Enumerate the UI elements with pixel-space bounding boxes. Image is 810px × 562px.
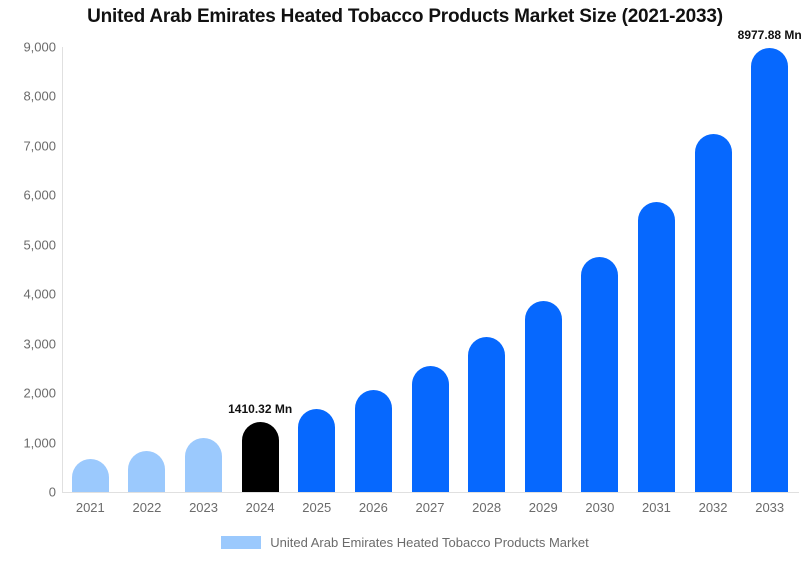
y-axis-tick-label: 9,000 [2,40,56,55]
y-axis-tick-label: 6,000 [2,188,56,203]
bar-2022[interactable] [128,451,165,492]
bar-2028[interactable] [468,337,505,492]
x-axis-tick-label: 2028 [472,500,501,515]
bar-2025[interactable] [298,409,335,492]
y-axis-tick-label: 2,000 [2,386,56,401]
x-axis: 2021202220232024202520262027202820292030… [62,500,798,522]
y-axis-tick-label: 7,000 [2,138,56,153]
bar-2031[interactable] [638,202,675,492]
x-axis-tick-label: 2032 [699,500,728,515]
x-axis-tick-label: 2031 [642,500,671,515]
x-axis-tick-label: 2030 [585,500,614,515]
x-axis-tick-label: 2027 [416,500,445,515]
bar-2026[interactable] [355,390,392,492]
x-axis-tick-label: 2033 [755,500,784,515]
x-axis-tick-label: 2023 [189,500,218,515]
y-axis-tick-label: 1,000 [2,435,56,450]
bar-2021[interactable] [72,459,109,492]
bar-2032[interactable] [695,134,732,492]
y-axis-tick-label: 0 [2,485,56,500]
y-axis-tick-label: 3,000 [2,336,56,351]
x-axis-tick-label: 2024 [246,500,275,515]
bar-value-label-2024: 1410.32 Mn [228,402,292,416]
x-axis-tick-label: 2029 [529,500,558,515]
legend-label[interactable]: United Arab Emirates Heated Tobacco Prod… [270,535,588,550]
bar-2027[interactable] [412,366,449,492]
bar-2023[interactable] [185,438,222,492]
x-axis-tick-label: 2021 [76,500,105,515]
bar-2033[interactable] [751,48,788,492]
legend-swatch [221,536,261,549]
bar-2030[interactable] [581,257,618,492]
x-axis-tick-label: 2026 [359,500,388,515]
bar-2029[interactable] [525,301,562,492]
y-axis-tick-label: 8,000 [2,89,56,104]
bar-value-label-2033: 8977.88 Mn [738,28,802,42]
x-axis-tick-label: 2025 [302,500,331,515]
y-axis: 9,0008,0007,0006,0005,0004,0003,0002,000… [0,47,56,492]
x-axis-tick-label: 2022 [132,500,161,515]
chart-container: United Arab Emirates Heated Tobacco Prod… [0,0,810,562]
bars-layer: 1410.32 Mn8977.88 Mn [62,47,798,492]
chart-legend: United Arab Emirates Heated Tobacco Prod… [0,535,810,550]
chart-title: United Arab Emirates Heated Tobacco Prod… [0,6,810,28]
bar-2024[interactable] [242,422,279,492]
y-axis-tick-label: 5,000 [2,237,56,252]
y-axis-tick-label: 4,000 [2,287,56,302]
